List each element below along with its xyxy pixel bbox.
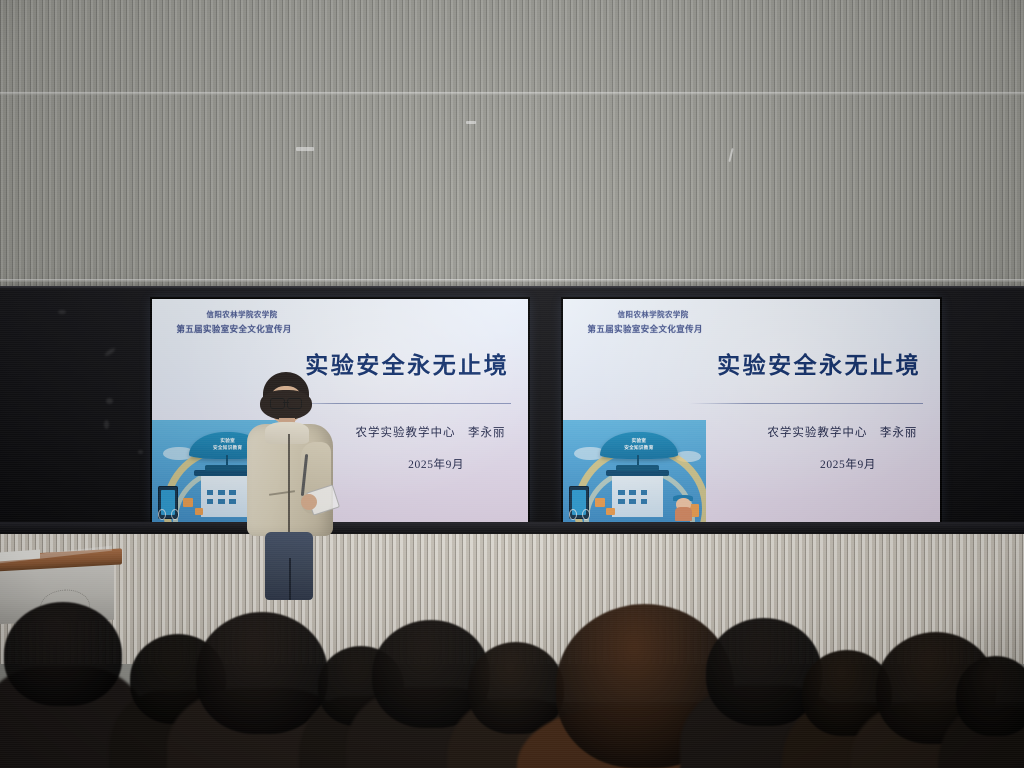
lecture-hall-scene: 信阳农林学院农学院 第五届实验室安全文化宣传月 实验安全永无止境 农学实验教学中…	[0, 0, 1024, 768]
box-icon	[195, 508, 204, 515]
slide-org-line-1: 信阳农林学院农学院	[207, 309, 278, 320]
character-body	[675, 507, 692, 521]
display-top-edge	[0, 286, 1024, 289]
wall-seam-upper	[0, 92, 1024, 95]
control-dot-icon	[171, 509, 179, 520]
building-roof-upper	[205, 465, 248, 471]
panel-smudge-4	[104, 420, 109, 429]
panel-smudge-3	[106, 398, 113, 404]
control-dot-icon	[158, 509, 166, 520]
presenter-collar	[265, 422, 309, 444]
audience-head	[468, 642, 564, 734]
slide-title: 实验安全永无止境	[717, 346, 921, 380]
building-window	[641, 499, 648, 504]
building-window	[629, 499, 636, 504]
panel-smudge-1	[58, 310, 66, 314]
presentation-slide-left: 信阳农林学院农学院 第五届实验室安全文化宣传月 实验安全永无止境 农学实验教学中…	[152, 299, 528, 523]
building-roof-upper	[616, 465, 659, 471]
building-window	[218, 499, 225, 504]
building-window	[218, 490, 225, 495]
left-display[interactable]: 信阳农林学院农学院 第五届实验室安全文化宣传月 实验安全永无止境 农学实验教学中…	[152, 299, 528, 523]
slide-org-line-2: 第五届实验室安全文化宣传月	[588, 323, 703, 335]
control-dot-icon	[569, 509, 577, 520]
box-icon	[595, 498, 605, 506]
wall-display-unit: 信阳农林学院农学院 第五届实验室安全文化宣传月 实验安全永无止境 农学实验教学中…	[0, 286, 1024, 536]
slide-title: 实验安全永无止境	[305, 346, 509, 380]
umbrella-text-line-1: 实验室	[600, 438, 677, 444]
building-window	[618, 490, 625, 495]
slide-subtitle-presenter: 农学实验教学中心 李永丽	[767, 424, 917, 440]
audience-head	[196, 612, 328, 734]
presenter-hand	[301, 494, 317, 510]
slide-subtitle-date: 2025年9月	[820, 456, 876, 472]
audience-head	[4, 602, 122, 706]
control-dot-icon	[582, 509, 590, 520]
upper-ribbed-wall	[0, 0, 1024, 300]
slide-title-divider	[689, 403, 923, 404]
slide-org-line-2: 第五届实验室安全文化宣传月	[176, 323, 291, 335]
panel-smudge-5	[138, 450, 143, 454]
audience	[0, 560, 1024, 768]
building-window	[618, 499, 625, 504]
building-window	[641, 490, 648, 495]
audience-head	[956, 656, 1024, 736]
presenter-jacket-zipper	[288, 434, 290, 532]
wall-seam-lower	[0, 279, 1024, 282]
umbrella-text-line-2: 安全知识教育	[600, 445, 677, 451]
slide-illustration: 实验室 安全知识教育	[563, 420, 706, 523]
box-icon	[606, 508, 615, 515]
building-window	[207, 499, 214, 504]
wall-scuff-1	[296, 147, 314, 151]
box-icon	[183, 498, 193, 506]
building-window	[229, 499, 236, 504]
slide-subtitle-presenter: 农学实验教学中心 李永丽	[355, 424, 505, 440]
building-window	[629, 490, 636, 495]
building-roof	[606, 470, 670, 477]
presentation-slide-right: 信阳农林学院农学院 第五届实验室安全文化宣传月 实验安全永无止境 农学实验教学中…	[563, 299, 940, 523]
wall-scuff-2	[466, 121, 476, 124]
building-icon	[612, 476, 664, 517]
panel-smudge-2	[104, 347, 116, 357]
right-display[interactable]: 信阳农林学院农学院 第五届实验室安全文化宣传月 实验安全永无止境 农学实验教学中…	[563, 299, 940, 523]
slide-org-line-1: 信阳农林学院农学院	[618, 309, 689, 320]
building-window	[207, 490, 214, 495]
slide-subtitle-date: 2025年9月	[408, 456, 464, 472]
glasses-icon	[270, 398, 302, 407]
umbrella-icon: 实验室 安全知识教育	[600, 432, 677, 459]
building-window	[229, 490, 236, 495]
